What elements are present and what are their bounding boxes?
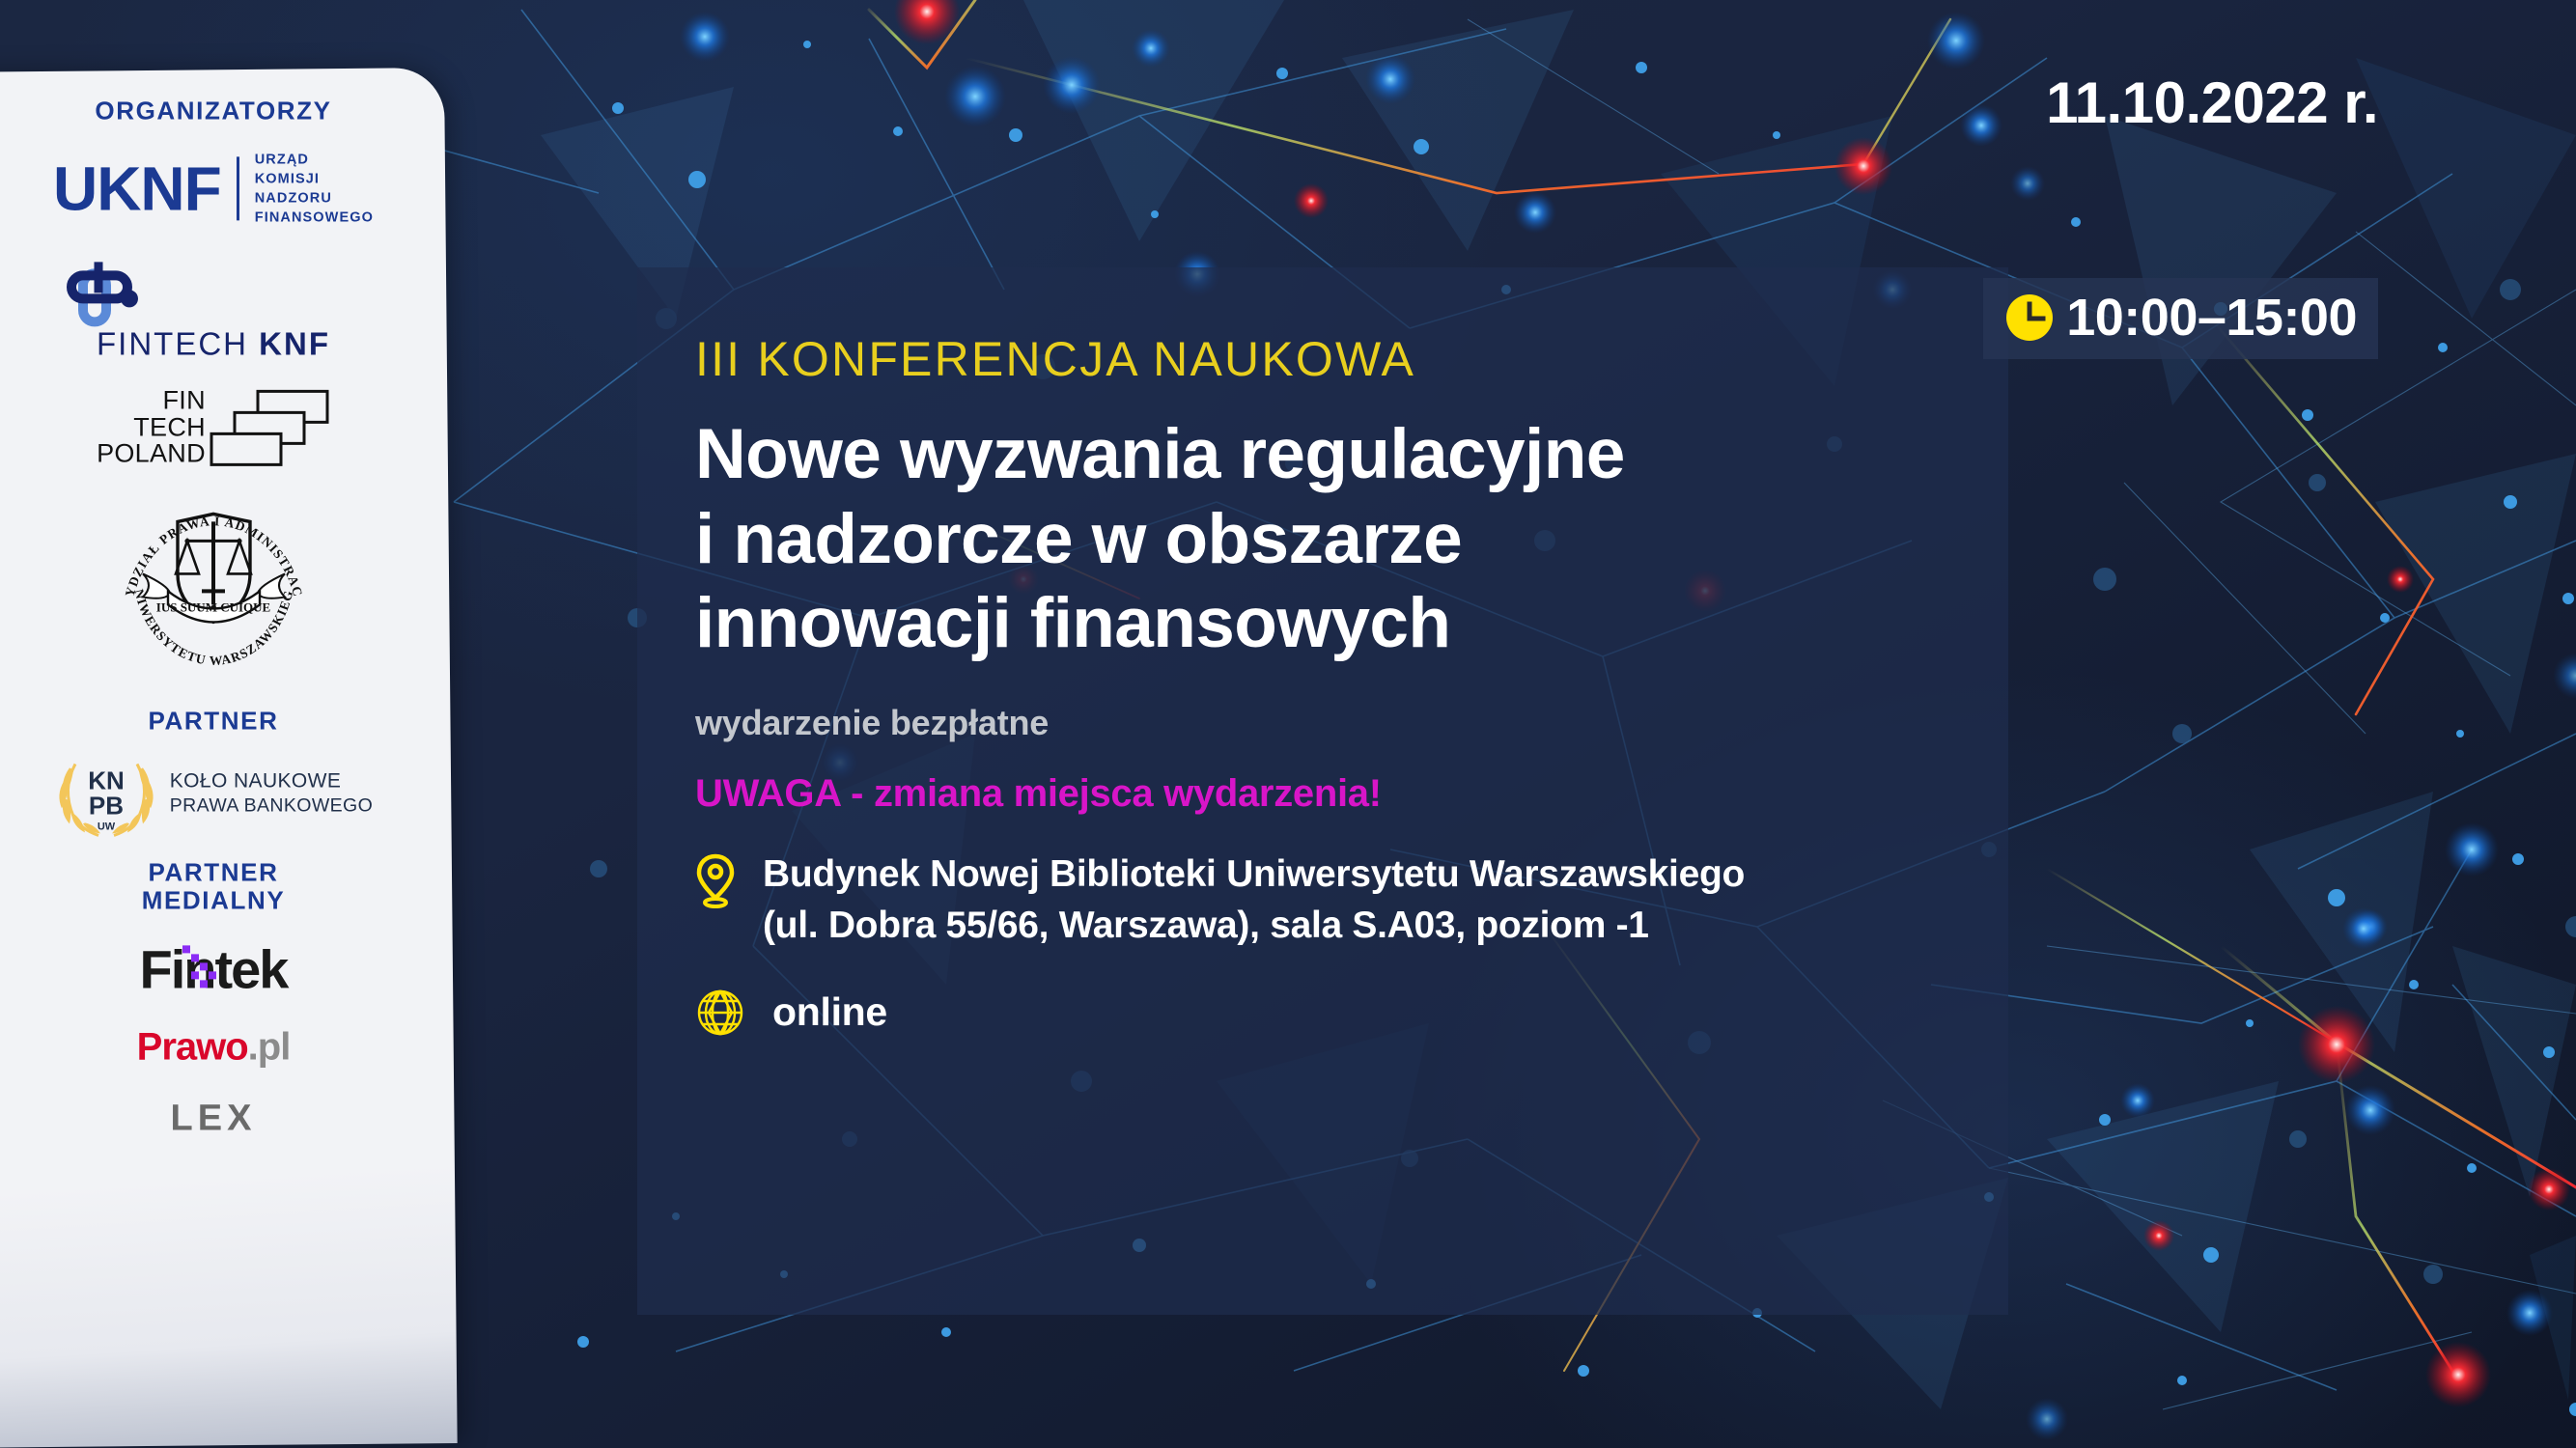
uknf-sub-line-2: KOMISJI xyxy=(255,170,374,189)
free-event-note: wydarzenie bezpłatne xyxy=(695,703,1950,743)
title-line-1: Nowe wyzwania regulacyjne xyxy=(695,412,1950,497)
globe-icon xyxy=(695,988,745,1043)
prawo-wordmark-red: Prawo xyxy=(137,1025,248,1068)
title-line-2: i nadzorcze w obszarze xyxy=(695,497,1950,582)
fintek-pixel-dots-icon xyxy=(181,943,225,997)
uknf-divider xyxy=(237,157,239,221)
knpb-monogram-line-2: PB xyxy=(89,791,124,820)
logo-uw-faculty-seal: WYDZIAŁ PRAWA I ADMINISTRACJI UNIWERSYTE… xyxy=(109,485,317,697)
fintech-poland-line-3: POLAND xyxy=(97,441,206,468)
logo-prawo-pl: Prawo.pl xyxy=(137,1025,291,1069)
title-line-3: innowacji finansowych xyxy=(695,581,1950,666)
media-partner-heading: PARTNER MEDIALNY xyxy=(142,858,286,914)
media-partner-heading-line-1: PARTNER xyxy=(142,858,286,886)
fintech-knf-word-bold: KNF xyxy=(259,326,330,362)
fintech-poland-line-1: FIN xyxy=(97,388,206,415)
conference-kicker: III KONFERENCJA NAUKOWA xyxy=(695,331,1950,387)
venue-change-warning: UWAGA - zmiana miejsca wydarzenia! xyxy=(695,772,1950,816)
logo-fintech-knf: FINTECH KNF xyxy=(10,249,417,363)
uknf-sub-line-1: URZĄD xyxy=(255,151,374,170)
logo-fintech-poland: FIN TECH POLAND xyxy=(97,388,330,468)
prawo-wordmark-grey: .pl xyxy=(248,1025,291,1068)
knpb-name-line-1: KOŁO NAUKOWE xyxy=(170,768,373,794)
organizers-heading: ORGANIZATORZY xyxy=(95,97,331,125)
fintech-poland-wordmark: FIN TECH POLAND xyxy=(97,388,206,468)
fintech-knf-mark-icon xyxy=(60,249,156,338)
event-time-badge: 10:00–15:00 xyxy=(1983,278,2378,359)
logo-fintek: Fintek xyxy=(140,937,288,1000)
partner-heading: PARTNER xyxy=(149,707,279,735)
fintech-knf-wordmark: FINTECH KNF xyxy=(97,326,330,363)
page-title: Nowe wyzwania regulacyjne i nadzorcze w … xyxy=(695,412,1950,666)
seal-motto: IUS SUUM CUIQUE xyxy=(155,599,269,614)
event-date-text: 11.10.2022 r. xyxy=(2046,70,2378,136)
main-content-panel: III KONFERENCJA NAUKOWA Nowe wyzwania re… xyxy=(637,267,2008,1315)
event-time-text: 10:00–15:00 xyxy=(2066,288,2357,348)
uknf-sub-line-4: FINANSOWEGO xyxy=(255,209,374,228)
event-date: 11.10.2022 r. xyxy=(2046,70,2378,136)
knpb-name-line-2: PRAWA BANKOWEGO xyxy=(170,794,373,817)
venue-line-1: Budynek Nowej Biblioteki Uniwersytetu Wa… xyxy=(763,849,1745,900)
venue-row: Budynek Nowej Biblioteki Uniwersytetu Wa… xyxy=(695,849,1950,951)
fintech-knf-word-light: FINTECH xyxy=(97,326,259,362)
location-pin-icon xyxy=(695,852,736,913)
venue-text: Budynek Nowej Biblioteki Uniwersytetu Wa… xyxy=(763,849,1745,951)
uknf-wordmark: UKNF xyxy=(53,158,221,220)
knpb-monogram-sub: UW xyxy=(98,821,116,832)
media-partner-heading-line-2: MEDIALNY xyxy=(142,886,286,914)
uknf-sub-line-3: NADZORU xyxy=(255,189,374,209)
knpb-name: KOŁO NAUKOWE PRAWA BANKOWEGO xyxy=(170,768,373,818)
logo-uknf: UKNF URZĄD KOMISJI NADZORU FINANSOWEGO xyxy=(53,151,374,228)
logo-lex: LEX xyxy=(171,1098,257,1139)
laurel-wreath-icon: KN PB UW xyxy=(54,748,158,837)
uknf-subtitle: URZĄD KOMISJI NADZORU FINANSOWEGO xyxy=(255,151,374,228)
online-text: online xyxy=(772,986,887,1040)
stacked-rectangles-icon xyxy=(210,388,330,467)
conference-poster: ORGANIZATORZY UKNF URZĄD KOMISJI NADZORU… xyxy=(0,0,2576,1448)
venue-line-2: (ul. Dobra 55/66, Warszawa), sala S.A03,… xyxy=(763,900,1745,951)
scales-of-justice-seal-icon: WYDZIAŁ PRAWA I ADMINISTRACJI UNIWERSYTE… xyxy=(109,485,317,692)
logo-knpb: KN PB UW KOŁO NAUKOWE PRAWA BANKOWEGO xyxy=(54,748,373,837)
fintech-poland-line-2: TECH xyxy=(97,414,206,441)
online-row: online xyxy=(695,984,1950,1043)
clock-icon xyxy=(2004,292,2055,343)
sponsors-sidebar: ORGANIZATORZY UKNF URZĄD KOMISJI NADZORU… xyxy=(0,68,458,1448)
